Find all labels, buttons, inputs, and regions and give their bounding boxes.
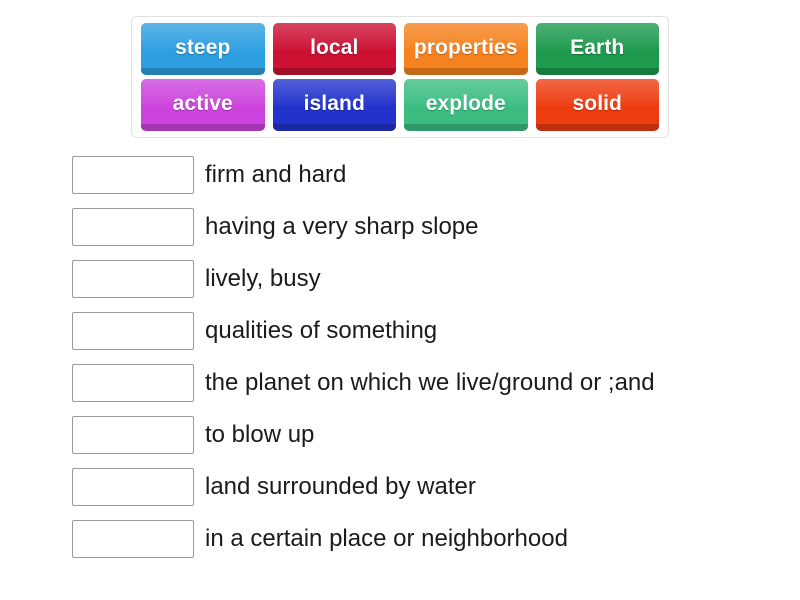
definition-text: qualities of something bbox=[205, 317, 437, 345]
answer-dropzone[interactable] bbox=[72, 208, 194, 246]
question-row: to blow up bbox=[72, 416, 772, 454]
definition-text: land surrounded by water bbox=[205, 473, 476, 501]
word-tile-local[interactable]: local bbox=[273, 23, 397, 75]
answer-dropzone[interactable] bbox=[72, 260, 194, 298]
word-tile-label: island bbox=[304, 92, 365, 119]
definition-text: to blow up bbox=[205, 421, 314, 449]
answer-dropzone[interactable] bbox=[72, 468, 194, 506]
word-tile-label: steep bbox=[175, 36, 230, 63]
word-tile-active[interactable]: active bbox=[141, 79, 265, 131]
definition-text: the planet on which we live/ground or ;a… bbox=[205, 369, 655, 397]
word-tile-label: solid bbox=[572, 92, 622, 119]
question-row: the planet on which we live/ground or ;a… bbox=[72, 364, 772, 402]
word-tile-label: Earth bbox=[570, 36, 624, 63]
definition-text: having a very sharp slope bbox=[205, 213, 479, 241]
answer-dropzone[interactable] bbox=[72, 156, 194, 194]
word-tile-steep[interactable]: steep bbox=[141, 23, 265, 75]
answer-dropzone[interactable] bbox=[72, 520, 194, 558]
question-row: qualities of something bbox=[72, 312, 772, 350]
question-row: land surrounded by water bbox=[72, 468, 772, 506]
answer-dropzone[interactable] bbox=[72, 364, 194, 402]
question-row: in a certain place or neighborhood bbox=[72, 520, 772, 558]
match-up-activity: steeplocalpropertiesEarth activeislandex… bbox=[0, 0, 800, 600]
word-tile-explode[interactable]: explode bbox=[404, 79, 528, 131]
word-tile-island[interactable]: island bbox=[273, 79, 397, 131]
word-tile-label: explode bbox=[426, 92, 506, 119]
question-row: having a very sharp slope bbox=[72, 208, 772, 246]
question-list: firm and hardhaving a very sharp slopeli… bbox=[72, 156, 772, 572]
word-tile-solid[interactable]: solid bbox=[536, 79, 660, 131]
question-row: lively, busy bbox=[72, 260, 772, 298]
word-tile-label: active bbox=[173, 92, 233, 119]
answer-dropzone[interactable] bbox=[72, 312, 194, 350]
question-row: firm and hard bbox=[72, 156, 772, 194]
word-tile-label: properties bbox=[414, 36, 518, 63]
word-tile-earth[interactable]: Earth bbox=[536, 23, 660, 75]
definition-text: lively, busy bbox=[205, 265, 321, 293]
word-bank: steeplocalpropertiesEarth activeislandex… bbox=[131, 16, 669, 138]
definition-text: in a certain place or neighborhood bbox=[205, 525, 568, 553]
definition-text: firm and hard bbox=[205, 161, 346, 189]
word-tile-label: local bbox=[310, 36, 358, 63]
answer-dropzone[interactable] bbox=[72, 416, 194, 454]
word-tile-properties[interactable]: properties bbox=[404, 23, 528, 75]
word-bank-row-2: activeislandexplodesolid bbox=[137, 79, 663, 131]
word-bank-row-1: steeplocalpropertiesEarth bbox=[137, 23, 663, 75]
